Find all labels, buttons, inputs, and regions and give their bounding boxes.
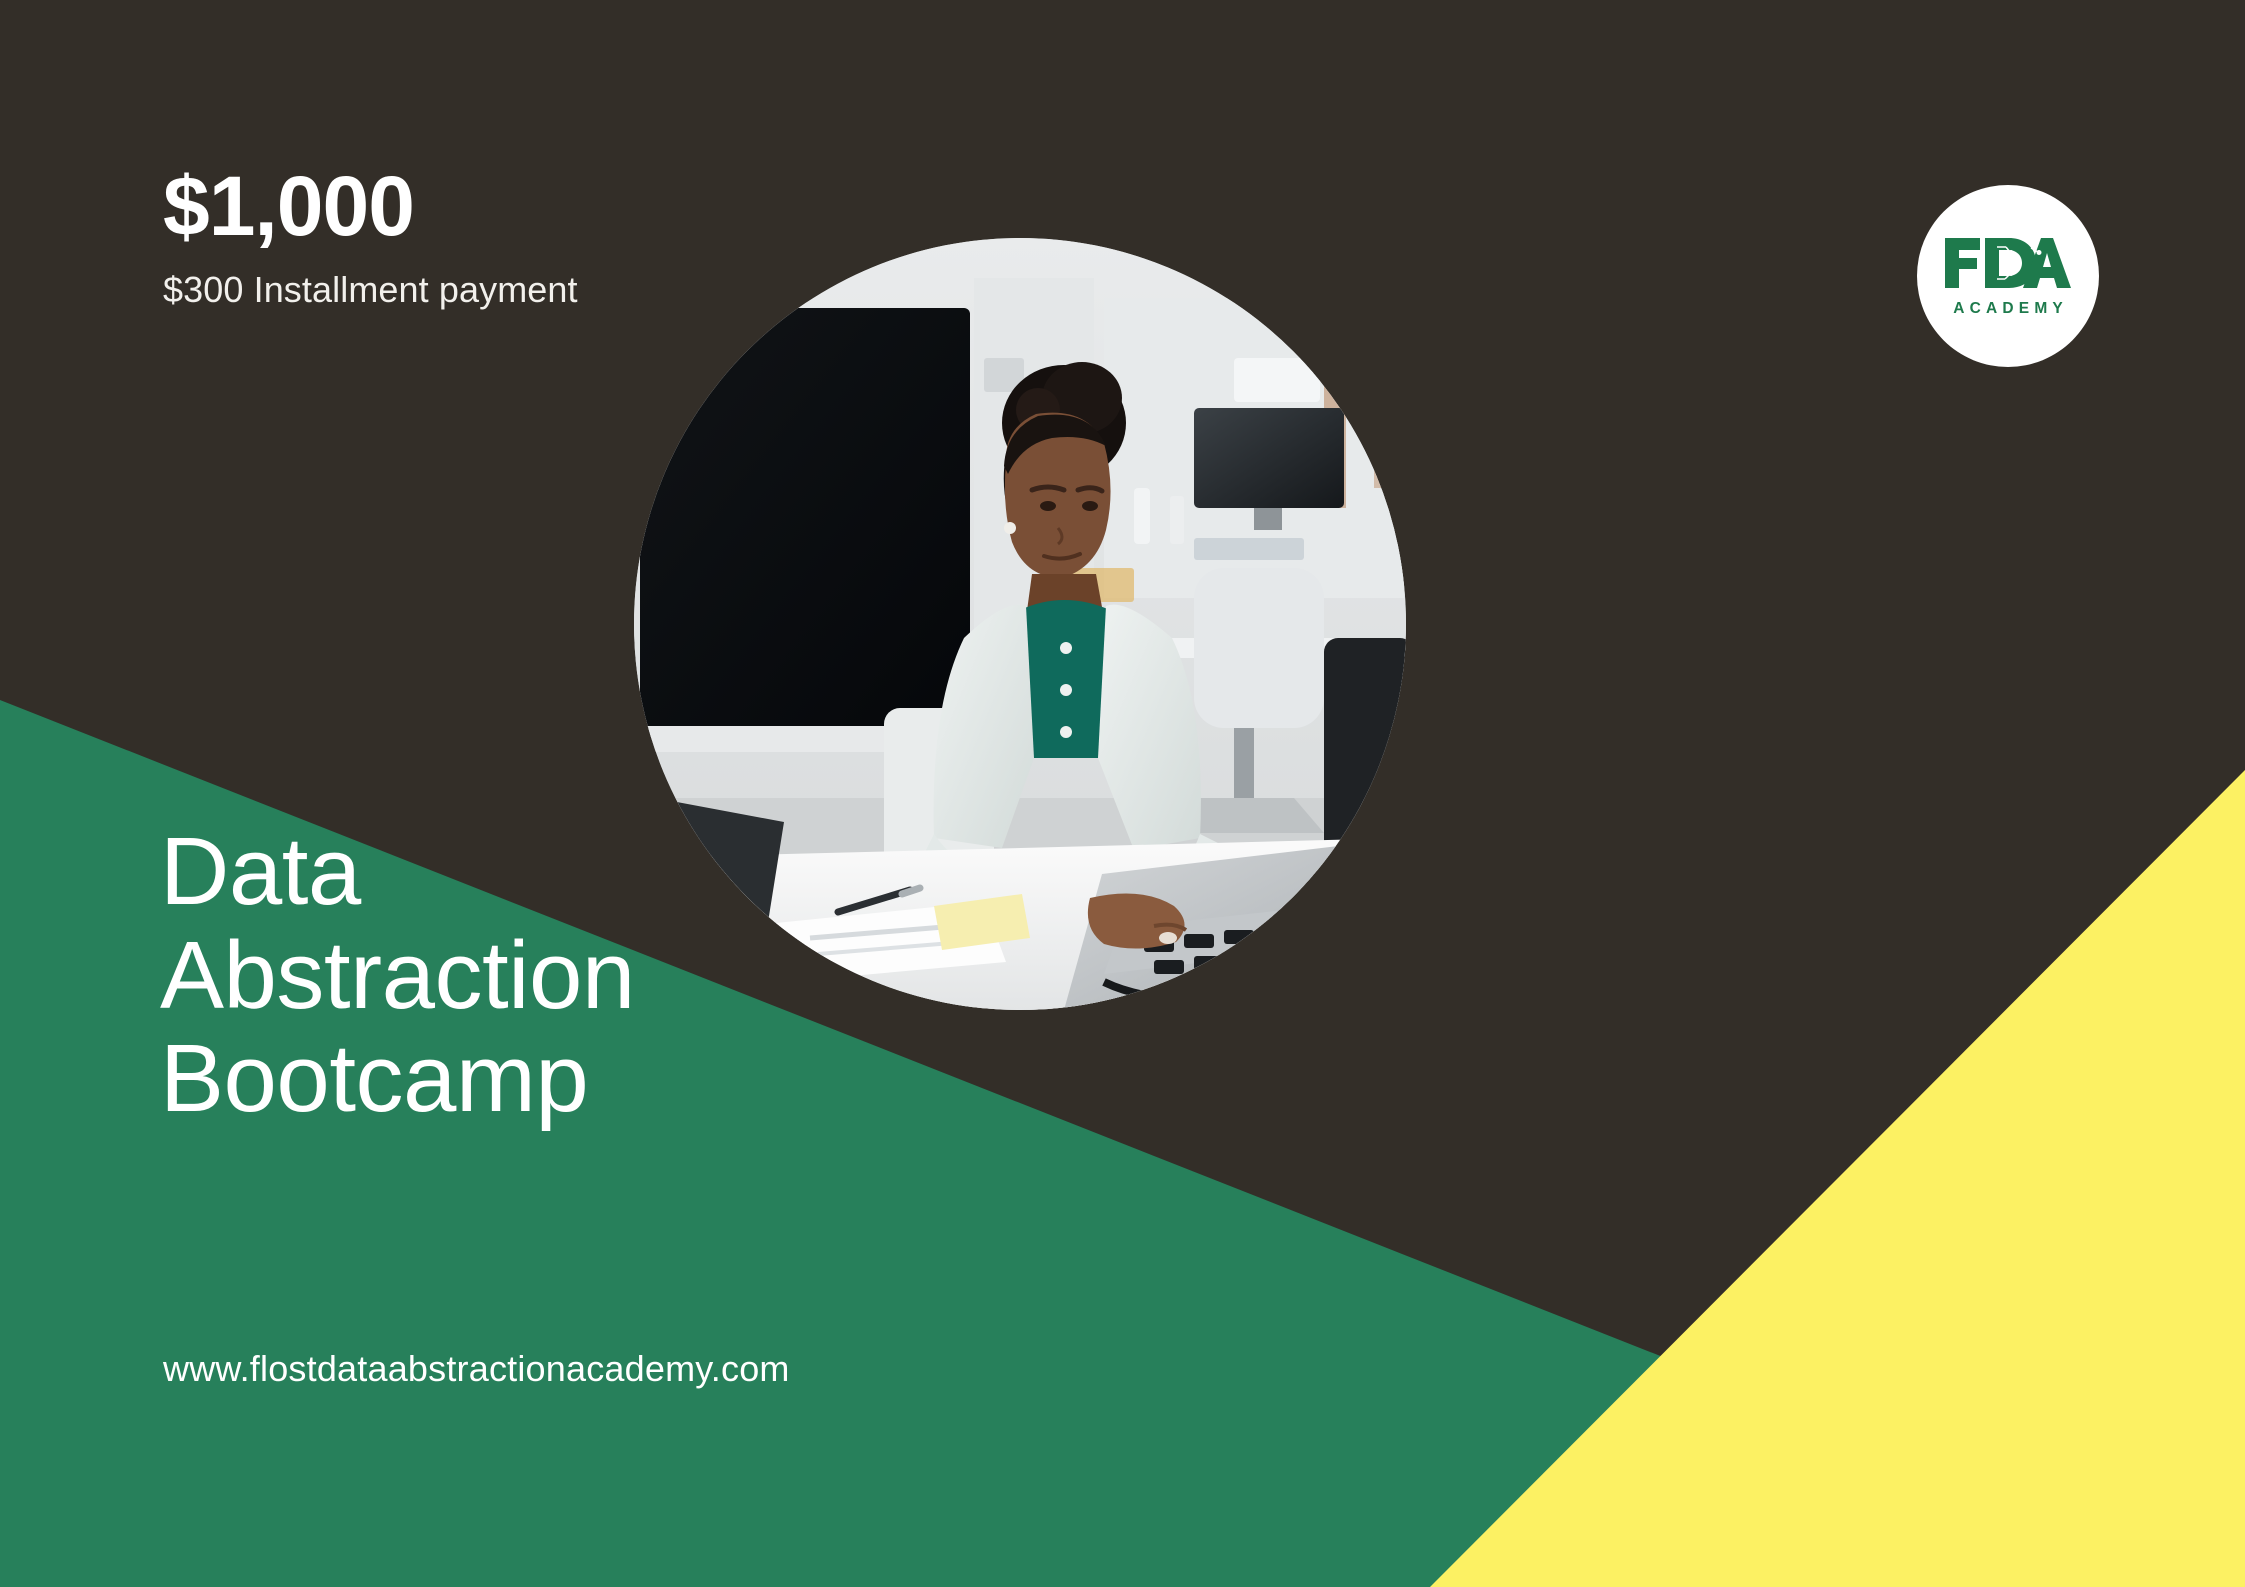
headline-line-1: Data xyxy=(160,820,635,924)
headline-line-3: Bootcamp xyxy=(160,1027,635,1131)
fda-logo-mark-icon xyxy=(1943,235,2073,291)
logo-subtext: ACADEMY xyxy=(1948,300,2068,318)
page-title: Data Abstraction Bootcamp xyxy=(160,820,635,1131)
pricing-block: $1,000 $300 Installment payment xyxy=(163,165,578,311)
headline-line-2: Abstraction xyxy=(160,924,635,1028)
student-photo xyxy=(634,238,1406,1010)
price-amount: $1,000 xyxy=(163,165,578,247)
website-url[interactable]: www.flostdataabstractionacademy.com xyxy=(163,1348,790,1390)
promotional-flyer: ACADEMY $1,000 $300 Installment payment … xyxy=(0,0,2245,1587)
installment-note: $300 Installment payment xyxy=(163,269,578,311)
fda-academy-logo: ACADEMY xyxy=(1917,185,2099,367)
